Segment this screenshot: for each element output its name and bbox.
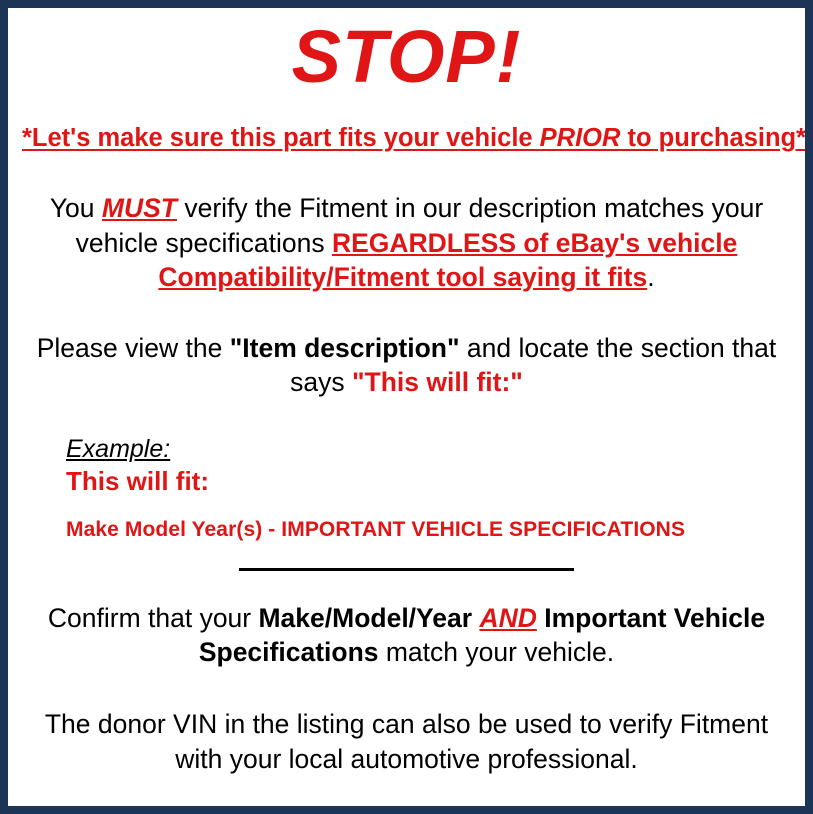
view-bold-item-description: "Item description" [230,333,460,363]
confirm-emphasis-and: AND [479,603,536,633]
notice-content: STOP! *Let's make sure this part fits yo… [8,8,805,806]
paragraph-confirm: Confirm that your Make/Model/Year AND Im… [22,601,791,670]
must-seg-1: You [50,193,102,223]
subtitle-emphasis-prior: PRIOR [540,124,621,152]
horizontal-divider [239,568,574,571]
subtitle-suffix: to purchasing* [620,124,806,152]
example-block: Example: This will fit: Make Model Year(… [22,436,791,542]
thank-you-message: Thank you for confirming Fitment! [22,802,791,814]
subtitle-prefix: *Let's make sure this part fits your veh… [22,124,540,152]
example-fit-heading: This will fit: [66,465,791,498]
must-seg-3: . [647,262,654,292]
subtitle-banner: *Let's make sure this part fits your veh… [22,124,791,153]
example-spec-line: Make Model Year(s) - IMPORTANT VEHICLE S… [66,518,791,542]
confirm-seg-1: Confirm that your [48,603,259,633]
example-label: Example: [66,436,791,464]
confirm-bold-make-model-year: Make/Model/Year [258,603,472,633]
confirm-seg-2: match your vehicle. [379,637,615,667]
page-title: STOP! [22,20,791,94]
paragraph-item-description: Please view the "Item description" and l… [22,331,791,400]
must-emphasis: MUST [102,193,177,223]
paragraph-donor-vin: The donor VIN in the listing can also be… [22,707,791,776]
fitment-notice-card: STOP! *Let's make sure this part fits yo… [0,0,813,814]
paragraph-must-verify: You MUST verify the Fitment in our descr… [22,191,791,294]
view-seg-1: Please view the [37,333,230,363]
view-red-this-will-fit: "This will fit:" [352,367,523,397]
divider-wrap [22,568,791,571]
vin-text: The donor VIN in the listing can also be… [45,709,768,773]
